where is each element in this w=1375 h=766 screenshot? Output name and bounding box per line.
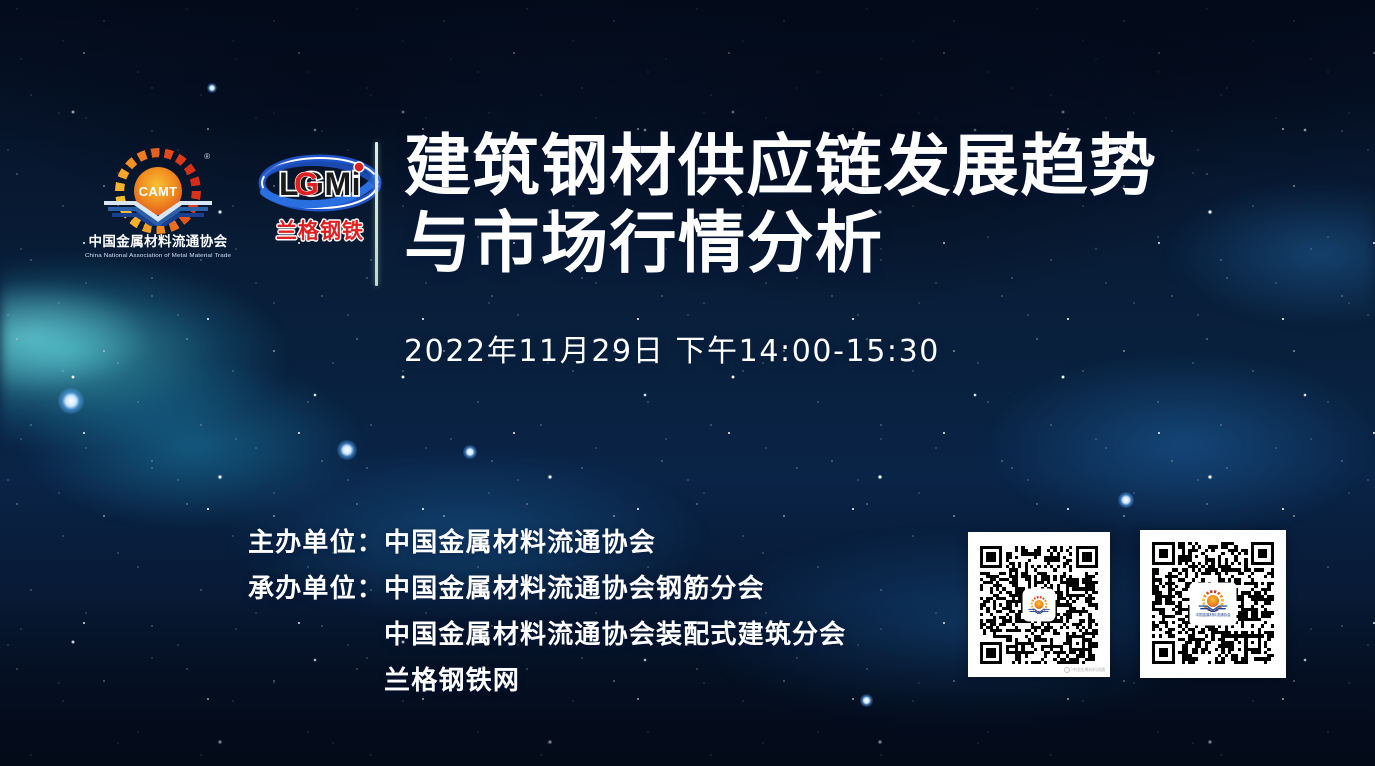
organizer-row: 承办单位： 中国金属材料流通协会钢筋分会	[248, 566, 968, 612]
qr-watermark-text: 中国金属材料流通	[1072, 667, 1105, 673]
qr-center-logo: 中国金属材料流通协会	[1191, 584, 1235, 624]
page-title: 建筑钢材供应链发展趋势 与市场行情分析	[404, 128, 1234, 282]
qr-code-camt-right[interactable]: 中国金属材料流通协会	[1140, 530, 1286, 678]
lgmi-name-cn: 兰格钢铁	[256, 215, 384, 245]
qr-center-logo-caption: 中国金属材料流通协会	[1196, 612, 1231, 618]
camt-logo: CAMT ® 中国金属材料流通协会 China National Associa…	[78, 148, 238, 259]
lgmi-emblem-icon: LGMi G	[256, 152, 384, 214]
svg-text:G: G	[294, 166, 319, 202]
organizer-row: 主办单位： 中国金属材料流通协会	[248, 520, 968, 566]
event-poster: CAMT ® 中国金属材料流通协会 China National Associa…	[0, 0, 1375, 766]
event-datetime: 2022年11月29日 下午14:00-15:30	[404, 333, 940, 371]
registered-mark: ®	[204, 152, 210, 161]
lgmi-logo: LGMi G 兰格钢铁	[256, 148, 384, 245]
bright-star-icon	[463, 445, 477, 459]
qr-code-camt-left[interactable]: 中国金属材料流通	[968, 532, 1110, 677]
title-line-2: 与市场行情分析	[404, 205, 1234, 282]
organizer-label: 主办单位：	[248, 520, 384, 566]
camt-emblem-icon	[1198, 590, 1228, 612]
poster-header: CAMT ® 中国金属材料流通协会 China National Associa…	[0, 0, 1375, 310]
organizer-value: 兰格钢铁网	[384, 658, 520, 704]
camt-emblem-icon: CAMT ®	[102, 148, 214, 226]
camt-wing-icon	[1198, 603, 1228, 612]
camt-name-en: China National Association of Metal Mate…	[78, 252, 238, 259]
organizer-value: 中国金属材料流通协会钢筋分会	[384, 566, 765, 612]
watermark-dot-icon	[1064, 667, 1070, 673]
title-line-1: 建筑钢材供应链发展趋势	[404, 128, 1234, 205]
organizer-value: 中国金属材料流通协会装配式建筑分会	[384, 612, 846, 658]
camt-wing-icon	[1028, 607, 1050, 614]
camt-emblem-icon	[1028, 596, 1050, 614]
bright-star-icon	[1118, 492, 1134, 508]
organizer-row: 承办单位： 兰格钢铁网	[248, 658, 968, 704]
camt-wing-icon	[102, 192, 214, 226]
logo-group: CAMT ® 中国金属材料流通协会 China National Associa…	[78, 148, 384, 259]
organizer-row: 承办单位： 中国金属材料流通协会装配式建筑分会	[248, 612, 968, 658]
bright-star-icon	[58, 388, 84, 414]
bright-star-icon	[337, 440, 357, 460]
qr-watermark: 中国金属材料流通	[1064, 667, 1105, 673]
qr-center-logo	[1024, 590, 1054, 620]
svg-text:LGMi: LGMi	[279, 166, 361, 202]
lgmi-wordmark-icon: LGMi G	[256, 152, 384, 214]
organizer-value: 中国金属材料流通协会	[384, 520, 656, 566]
title-divider	[375, 142, 378, 286]
organizer-label: 承办单位：	[248, 566, 384, 612]
organizer-list: 主办单位： 中国金属材料流通协会 承办单位： 中国金属材料流通协会钢筋分会 承办…	[248, 520, 968, 704]
